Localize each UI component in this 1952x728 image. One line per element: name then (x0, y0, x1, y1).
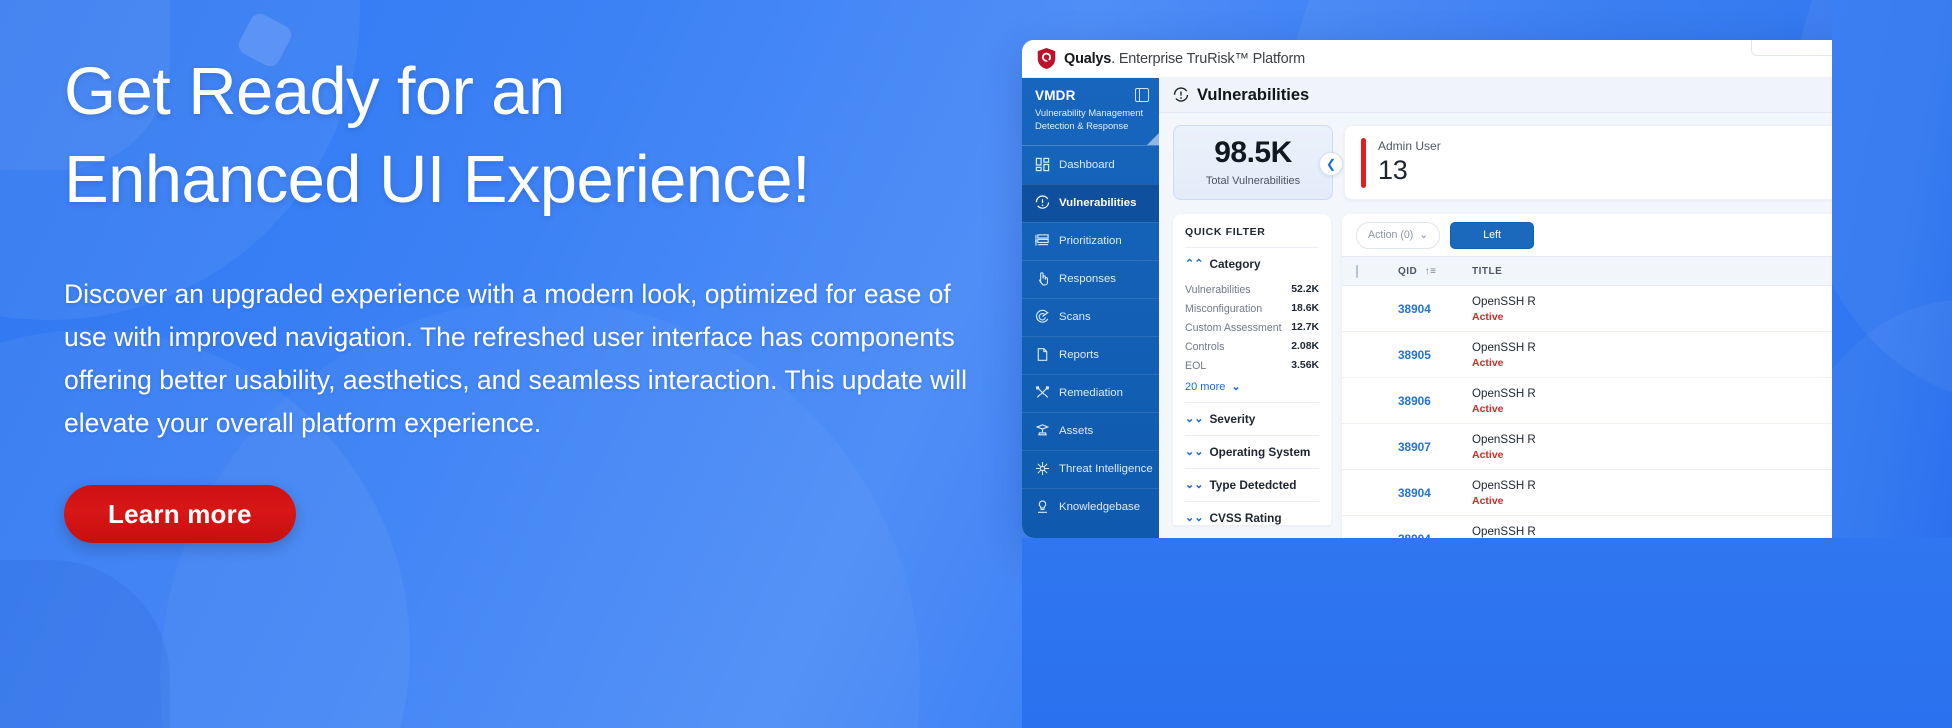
chevron-left-icon[interactable]: ❮ (1319, 152, 1343, 176)
row-select-cell (1342, 424, 1398, 470)
filter-row[interactable]: Custom Assessment 12.7K (1185, 318, 1319, 337)
sidebar-item-label: Assets (1059, 425, 1093, 437)
sidebar-item-label: Threat Intelligence (1059, 463, 1153, 475)
filter-row[interactable]: Vulnerabilities 52.2K (1185, 280, 1319, 299)
headline-line-2: Enhanced UI Experience! (64, 142, 810, 217)
row-qid-cell: 38906 (1398, 378, 1472, 424)
filter-row-label: Custom Assessment (1185, 322, 1282, 334)
brand-label: Qualys. Enterprise TruRisk™ Platform (1064, 51, 1305, 67)
divider (1185, 468, 1319, 469)
chevron-down-double-icon: ⌄⌄ (1185, 480, 1203, 491)
filter-group-category[interactable]: ⌃⌃ Category (1185, 257, 1319, 271)
divider (1185, 501, 1319, 502)
action-dropdown-label: Action (0) (1368, 229, 1413, 241)
filter-row-label: EOL (1185, 360, 1206, 372)
chevron-down-icon: ⌄ (1419, 229, 1428, 241)
chevron-down-double-icon: ⌄⌄ (1185, 513, 1203, 524)
column-select-all (1342, 257, 1398, 286)
column-qid-label: QID (1398, 266, 1417, 277)
qid-link[interactable]: 38904 (1398, 302, 1431, 316)
page-header-title: Vulnerabilities (1197, 86, 1309, 105)
filter-group-label: Severity (1209, 412, 1255, 426)
filter-row-label: Misconfiguration (1185, 303, 1262, 315)
filter-row[interactable]: Controls 2.08K (1185, 337, 1319, 356)
filter-group-label: Operating System (1209, 445, 1310, 459)
row-qid-cell: 38904 (1398, 470, 1472, 516)
row-qid-cell: 38904 (1398, 516, 1472, 539)
filter-group-label: Category (1209, 257, 1260, 271)
brand-suffix: . Enterprise TruRisk™ Platform (1111, 51, 1305, 67)
sidebar-item-label: Dashboard (1059, 159, 1115, 171)
chevron-down-double-icon: ⌄⌄ (1185, 414, 1203, 425)
filter-group-label: Type Detedcted (1209, 478, 1296, 492)
divider (1185, 435, 1319, 436)
qid-link[interactable]: 38906 (1398, 394, 1431, 408)
select-all-checkbox[interactable] (1356, 265, 1358, 278)
alert-circle-icon (1173, 87, 1189, 103)
hero-body-text: Discover an upgraded experience with a m… (64, 273, 984, 445)
filter-group-operating-system[interactable]: ⌄⌄ Operating System (1185, 445, 1319, 459)
filter-group-label: CVSS Rating (1209, 511, 1281, 525)
sidebar-item-label: Reports (1059, 349, 1099, 361)
quick-filter-title: QUICK FILTER (1185, 226, 1319, 238)
qid-link[interactable]: 38907 (1398, 440, 1431, 454)
filter-row-count: 52.2K (1291, 284, 1319, 295)
admin-card-value: 13 (1378, 155, 1441, 186)
filter-row-count: 2.08K (1291, 341, 1319, 352)
quick-filter-panel: QUICK FILTER ⌃⌃ Category Vulnerabilities… (1173, 214, 1331, 525)
page-title: Get Ready for an Enhanced UI Experience! (64, 48, 1064, 225)
row-qid-cell: 38907 (1398, 424, 1472, 470)
sidebar-corner-notch (1147, 133, 1159, 145)
show-more-filters-button[interactable]: 20 more ⌄ (1185, 381, 1319, 393)
chevron-up-double-icon: ⌃⌃ (1185, 259, 1203, 270)
total-vulnerabilities-card[interactable]: 98.5K Total Vulnerabilities ❮ (1173, 125, 1333, 200)
sidebar-item-label: Knowledgebase (1059, 501, 1140, 513)
sidebar-item-label: Prioritization (1059, 235, 1122, 247)
brand-name: Qualys (1064, 51, 1111, 67)
show-more-label: 20 more (1185, 381, 1225, 393)
learn-more-button[interactable]: Learn more (64, 485, 296, 543)
sidebar-item-label: Vulnerabilities (1059, 197, 1136, 209)
qid-link[interactable]: 38905 (1398, 348, 1431, 362)
row-select-cell (1342, 378, 1398, 424)
primary-action-button[interactable]: Left (1450, 222, 1534, 249)
filter-row-count: 18.6K (1291, 303, 1319, 314)
filter-row-count: 12.7K (1291, 322, 1319, 333)
filter-group-cvss-rating[interactable]: ⌄⌄ CVSS Rating (1185, 511, 1319, 525)
divider (1185, 247, 1319, 248)
background-overlay-bottom (1022, 538, 1952, 728)
filter-rows: Vulnerabilities 52.2K Misconfiguration 1… (1185, 280, 1319, 375)
filter-group-severity[interactable]: ⌄⌄ Severity (1185, 412, 1319, 426)
promo-banner: Get Ready for an Enhanced UI Experience!… (0, 0, 1952, 728)
row-select-cell (1342, 286, 1398, 332)
kpi-value: 98.5K (1214, 138, 1292, 168)
divider (1185, 402, 1319, 403)
filter-row[interactable]: Misconfiguration 18.6K (1185, 299, 1319, 318)
chevron-down-double-icon: ⌄⌄ (1185, 447, 1203, 458)
filter-row-count: 3.56K (1291, 360, 1319, 371)
filter-group-type-detected[interactable]: ⌄⌄ Type Detedcted (1185, 478, 1319, 492)
kpi-label: Total Vulnerabilities (1206, 175, 1300, 187)
sidebar-item-label: Remediation (1059, 387, 1123, 399)
action-dropdown[interactable]: Action (0) ⌄ (1356, 222, 1440, 249)
chevron-down-icon: ⌄ (1231, 382, 1240, 393)
sort-ascending-icon[interactable]: ↑≡ (1425, 266, 1437, 277)
row-qid-cell: 38905 (1398, 332, 1472, 378)
column-qid[interactable]: QID ↑≡ (1398, 257, 1472, 286)
row-select-cell (1342, 332, 1398, 378)
row-select-cell (1342, 516, 1398, 539)
panel-collapse-icon[interactable] (1135, 88, 1149, 102)
hero-copy: Get Ready for an Enhanced UI Experience!… (64, 48, 1064, 543)
row-qid-cell: 38904 (1398, 286, 1472, 332)
background-corner-bottom-left (0, 560, 170, 728)
sidebar-item-label: Responses (1059, 273, 1116, 285)
filter-row[interactable]: EOL 3.56K (1185, 356, 1319, 375)
admin-card-label: Admin User (1378, 139, 1441, 153)
status-accent-bar (1361, 138, 1366, 188)
filter-row-label: Controls (1185, 341, 1224, 353)
qid-link[interactable]: 38904 (1398, 486, 1431, 500)
column-title-label: TITLE (1472, 266, 1502, 277)
filter-row-label: Vulnerabilities (1185, 284, 1251, 296)
headline-line-1: Get Ready for an (64, 54, 565, 129)
row-select-cell (1342, 470, 1398, 516)
